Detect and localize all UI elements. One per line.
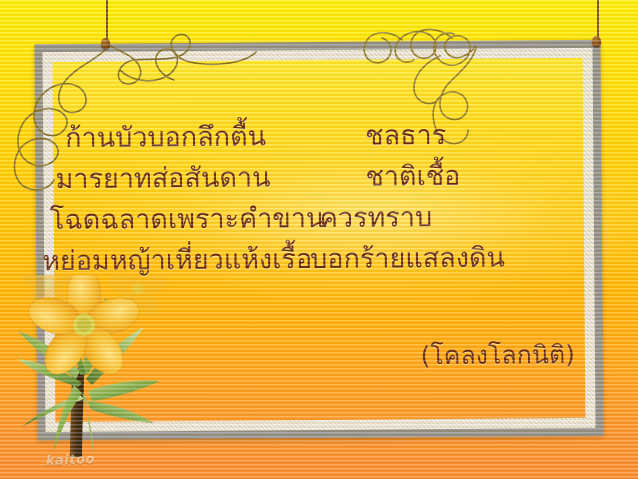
poem-line-3: โฉดฉลาดเพราะคำขาน ควรทราบ: [42, 196, 596, 241]
poem-line-2: มารยาทส่อสันดาน ชาติเชื้อ: [41, 155, 595, 200]
poem-line-4-hemistich-b: บอกร้ายแสลงดิน: [310, 238, 505, 281]
hanging-wire-right: [597, 0, 599, 40]
poem-line-4-hemistich-a: หย่อมหญ้าเหี่ยวแห้งเรื้อ: [42, 239, 310, 282]
poem-line-3-hemistich-a: โฉดฉลาดเพราะคำขาน: [50, 198, 320, 241]
slide-canvas: ก้านบัวบอกลึกตื้น ชลธาร มารยาทส่อสันดาน …: [0, 0, 638, 479]
poem-line-2-hemistich-b: ชาติเชื้อ: [365, 156, 460, 198]
poem-text-block: ก้านบัวบอกลึกตื้น ชลธาร มารยาทส่อสันดาน …: [34, 40, 603, 440]
poem-line-3-hemistich-b: ควรทราบ: [320, 197, 433, 239]
poem-line-1: ก้านบัวบอกลึกตื้น ชลธาร: [41, 114, 595, 159]
poem-line-1-hemistich-b: ชลธาร: [365, 115, 446, 157]
poem-line-2-hemistich-a: มารยาทส่อสันดาน: [55, 157, 365, 200]
poem-line-4: หย่อมหญ้าเหี่ยวแห้งเรื้อ บอกร้ายแสลงดิน: [42, 237, 596, 282]
poem-line-1-hemistich-a: ก้านบัวบอกลึกตื้น: [65, 116, 365, 159]
poem-attribution: (โคลงโลกนิติ): [43, 335, 597, 379]
hanging-wire-left: [106, 0, 108, 42]
